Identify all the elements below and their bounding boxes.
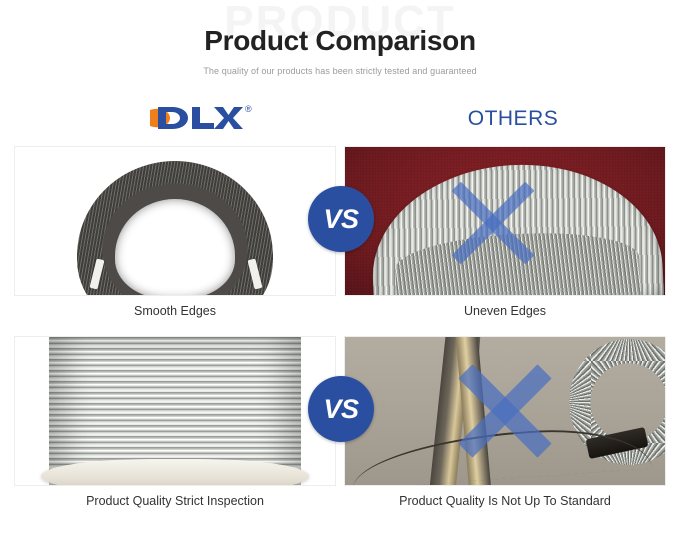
caption-ours-1: Smooth Edges xyxy=(14,301,336,321)
product-image-panel-others-1 xyxy=(344,146,666,296)
caption-others-2: Product Quality Is Not Up To Standard xyxy=(344,491,666,511)
registered-trademark-icon: ® xyxy=(245,104,252,114)
wire-coil-shape xyxy=(77,161,273,296)
vs-badge-2: VS xyxy=(308,376,374,442)
dlx-logo-icon xyxy=(148,102,244,134)
caption-others-1: Uneven Edges xyxy=(344,301,666,321)
vs-badge-label: VS xyxy=(308,186,374,252)
product-photo-wire-spool xyxy=(15,337,335,485)
wire-bundle-shape xyxy=(367,158,664,296)
comparison-row-1: VS Smooth Edges Uneven Edges xyxy=(0,146,680,336)
comparison-row-2: VS Product Quality Strict Inspection Pro… xyxy=(0,336,680,526)
page-header: PRODUCT Product Comparison The quality o… xyxy=(0,0,680,96)
product-image-panel-ours-1 xyxy=(14,146,336,296)
others-heading: OTHERS xyxy=(408,106,618,132)
vs-badge-label: VS xyxy=(308,376,374,442)
page-subtitle: The quality of our products has been str… xyxy=(0,64,680,78)
product-image-panel-others-2 xyxy=(344,336,666,486)
caption-ours-2: Product Quality Strict Inspection xyxy=(14,491,336,511)
product-photo-smooth-wire-coil xyxy=(15,147,335,295)
vs-badge-1: VS xyxy=(308,186,374,252)
brand-logo: ® xyxy=(148,102,252,134)
product-photo-uneven-wire-bundle xyxy=(345,147,665,295)
page-title: Product Comparison xyxy=(0,24,680,58)
brand-row: ® OTHERS xyxy=(0,96,680,146)
product-image-panel-ours-2 xyxy=(14,336,336,486)
spool-flange xyxy=(41,459,309,486)
product-photo-pliers-bending-wire xyxy=(345,337,665,485)
